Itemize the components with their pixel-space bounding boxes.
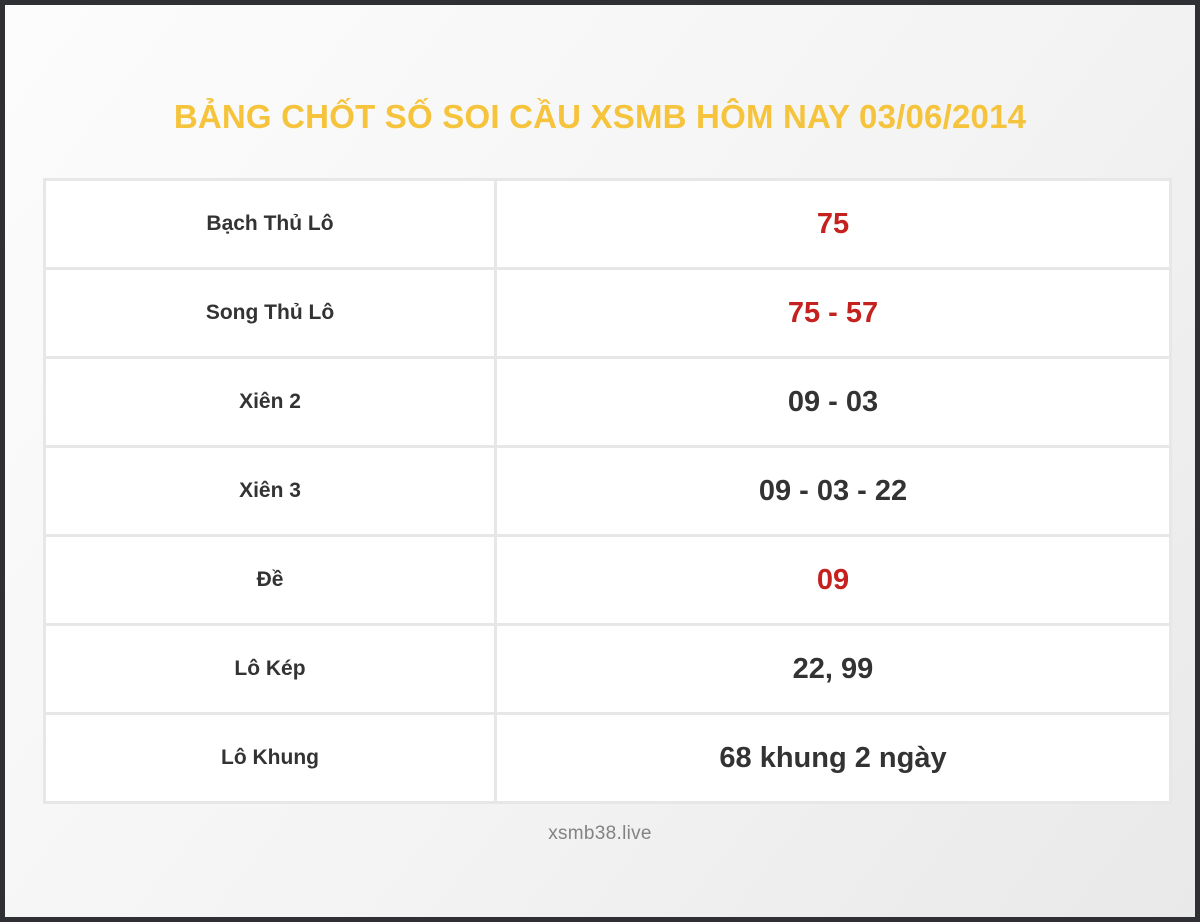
footer: xsmb38.live (5, 823, 1195, 845)
footer-site-label: xsmb38.live (548, 823, 652, 845)
table-row: Lô Kép22, 99 (45, 625, 1171, 714)
row-label: Xiên 3 (45, 447, 496, 536)
table-row: Song Thủ Lô75 - 57 (45, 269, 1171, 358)
row-label: Đề (45, 536, 496, 625)
row-label: Lô Kép (45, 625, 496, 714)
row-value: 68 khung 2 ngày (496, 714, 1171, 803)
row-value: 09 (496, 536, 1171, 625)
table-row: Bạch Thủ Lô75 (45, 180, 1171, 269)
page-canvas: BẢNG CHỐT SỐ SOI CẦU XSMB HÔM NAY 03/06/… (5, 5, 1195, 917)
table-row: Đề09 (45, 536, 1171, 625)
table-row: Lô Khung68 khung 2 ngày (45, 714, 1171, 803)
prediction-table: Bạch Thủ Lô75Song Thủ Lô75 - 57Xiên 209 … (43, 178, 1172, 804)
table-row: Xiên 209 - 03 (45, 358, 1171, 447)
table-body: Bạch Thủ Lô75Song Thủ Lô75 - 57Xiên 209 … (45, 180, 1171, 803)
row-value: 22, 99 (496, 625, 1171, 714)
row-value: 75 - 57 (496, 269, 1171, 358)
row-label: Bạch Thủ Lô (45, 180, 496, 269)
image-frame: BẢNG CHỐT SỐ SOI CẦU XSMB HÔM NAY 03/06/… (0, 0, 1200, 922)
page-title: BẢNG CHỐT SỐ SOI CẦU XSMB HÔM NAY 03/06/… (174, 97, 1026, 137)
row-label: Xiên 2 (45, 358, 496, 447)
row-label: Lô Khung (45, 714, 496, 803)
row-value: 09 - 03 (496, 358, 1171, 447)
row-value: 09 - 03 - 22 (496, 447, 1171, 536)
table-row: Xiên 309 - 03 - 22 (45, 447, 1171, 536)
title-bar: BẢNG CHỐT SỐ SOI CẦU XSMB HÔM NAY 03/06/… (5, 97, 1195, 137)
row-value: 75 (496, 180, 1171, 269)
row-label: Song Thủ Lô (45, 269, 496, 358)
